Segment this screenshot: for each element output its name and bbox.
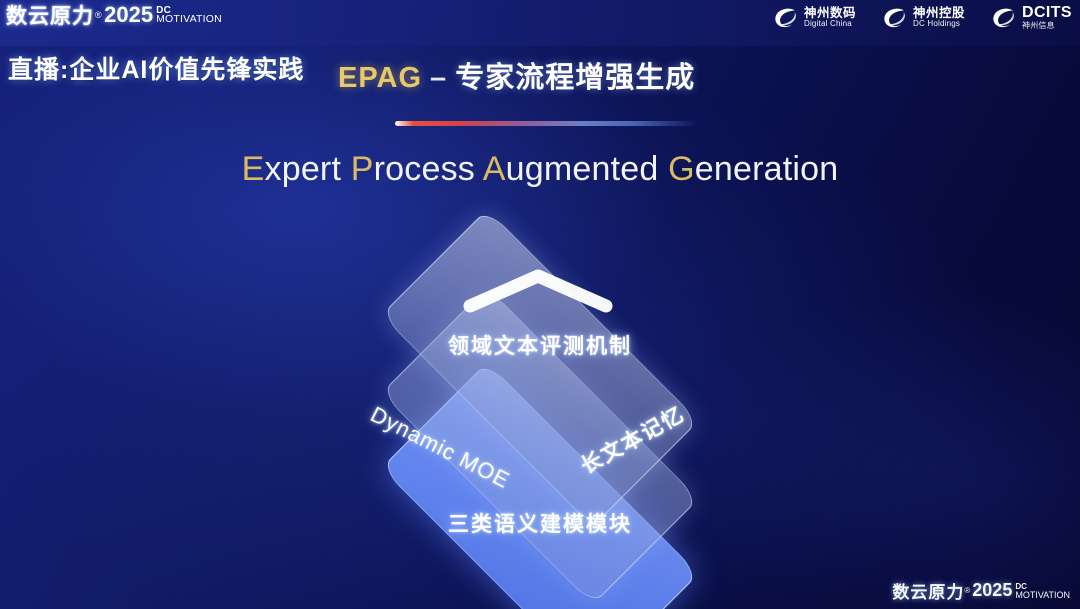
subtitle-initial-a: A: [483, 150, 506, 188]
page-title: EPAG–专家流程增强生成: [338, 54, 695, 96]
brand-name-cn: 数云原力: [6, 0, 94, 30]
logo-text-dc-holdings: 神州控股 DC Holdings: [913, 7, 965, 29]
logo-line1: DCITS: [1022, 5, 1072, 22]
logo-line2: 神州信息: [1022, 22, 1072, 30]
subtitle-initial-e: E: [242, 150, 265, 188]
brand-dc-motivation: DC MOTIVATION: [156, 6, 222, 24]
watermark-year: 2025: [972, 580, 1012, 601]
diagram-label-bottom: 三类语义建模模块: [0, 508, 1080, 538]
live-title: 直播:企业AI价值先锋实践: [8, 50, 304, 86]
watermark-dc-motivation: DC MOTIVATION: [1015, 583, 1070, 599]
watermark-name-cn: 数云原力: [892, 578, 964, 603]
logo-line1: 神州数码: [804, 7, 856, 20]
swirl-icon: [773, 7, 799, 29]
watermark-motivation-label: MOTIVATION: [1015, 591, 1070, 599]
slide-canvas: 数云原力 ® 2025 DC MOTIVATION 直播:企业AI价值先锋实践 …: [0, 0, 1080, 609]
subtitle-word-generation: eneration: [695, 150, 839, 188]
logo-dc-holdings: 神州控股 DC Holdings: [882, 7, 965, 29]
brand-year: 2025: [104, 2, 153, 28]
chevron-up-icon: [462, 268, 614, 314]
subtitle: Expert Process Augmented Generation: [0, 150, 1080, 189]
logo-line2: DC Holdings: [913, 20, 965, 28]
subtitle-initial-g: G: [668, 150, 695, 188]
subtitle-word-augmented: ugmented: [506, 150, 668, 188]
swirl-icon: [882, 7, 908, 29]
diagram-label-top: 领域文本评测机制: [0, 330, 1080, 360]
partner-logos: 神州数码 Digital China 神州控股 DC Holdings DCIT…: [773, 5, 1072, 30]
footer-watermark: 数云原力 ® 2025 DC MOTIVATION: [892, 578, 1070, 603]
title-acronym: EPAG: [338, 62, 422, 94]
brand-registered-mark: ®: [95, 10, 102, 20]
accent-rule: [395, 121, 695, 126]
logo-text-dcits: DCITS 神州信息: [1022, 5, 1072, 30]
logo-text-digital-china: 神州数码 Digital China: [804, 7, 856, 29]
watermark-registered-mark: ®: [964, 586, 970, 595]
brand-logo: 数云原力 ® 2025 DC MOTIVATION: [6, 2, 222, 28]
subtitle-word-expert: xpert: [265, 150, 351, 188]
brand-motivation-label: MOTIVATION: [156, 15, 222, 24]
swirl-icon: [991, 7, 1017, 29]
logo-dcits: DCITS 神州信息: [991, 5, 1072, 30]
logo-line1: 神州控股: [913, 7, 965, 20]
title-dash: –: [430, 62, 447, 94]
subtitle-initial-p: P: [351, 150, 374, 188]
logo-line2: Digital China: [804, 20, 856, 28]
logo-digital-china: 神州数码 Digital China: [773, 7, 856, 29]
title-chinese: 专家流程增强生成: [455, 62, 695, 94]
subtitle-word-process: rocess: [374, 150, 483, 188]
